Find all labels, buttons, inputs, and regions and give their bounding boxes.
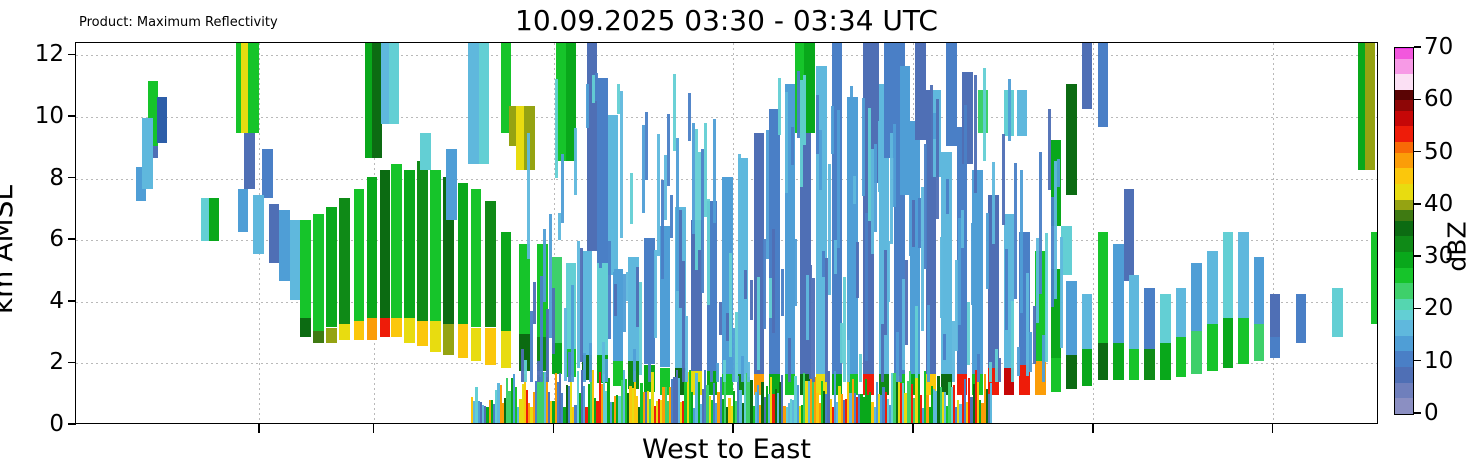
reflectivity-cell — [738, 154, 741, 289]
x-axis-tick — [258, 424, 260, 433]
reflectivity-cell — [893, 124, 896, 208]
colorbar-segment — [1395, 283, 1413, 299]
y-axis-tick-label: 8 — [49, 165, 64, 191]
reflectivity-cell — [354, 321, 365, 340]
reflectivity-column — [479, 42, 490, 423]
y-axis-title: km AMSL — [0, 185, 19, 314]
reflectivity-cell — [862, 98, 865, 196]
colorbar-tick-label: 10 — [1424, 348, 1453, 374]
reflectivity-cell — [611, 229, 614, 272]
reflectivity-column — [269, 42, 280, 423]
reflectivity-cell — [1014, 163, 1017, 299]
reflectivity-cell — [878, 121, 881, 192]
reflectivity-cell — [859, 354, 862, 381]
y-axis-tick — [68, 362, 76, 364]
reflectivity-cell — [1008, 79, 1011, 141]
reflectivity-cell — [599, 148, 602, 268]
reflectivity-cell — [313, 214, 324, 331]
colorbar-tick-label: 70 — [1424, 34, 1453, 60]
reflectivity-cell — [253, 195, 264, 254]
reflectivity-cell — [1254, 324, 1265, 361]
reflectivity-cell — [760, 184, 763, 244]
reflectivity-column — [313, 42, 324, 423]
reflectivity-cell — [269, 204, 280, 263]
y-axis-tick-label: 10 — [35, 103, 64, 129]
reflectivity-cell — [936, 99, 939, 219]
reflectivity-cell — [741, 356, 744, 382]
reflectivity-cell — [543, 229, 546, 302]
reflectivity-cell — [685, 316, 688, 382]
reflectivity-cell — [589, 343, 592, 382]
reflectivity-cell — [667, 114, 670, 186]
reflectivity-column — [1296, 42, 1307, 423]
colorbar-segment — [1395, 320, 1413, 336]
colorbar-segment — [1395, 153, 1413, 169]
reflectivity-column — [1113, 42, 1124, 423]
reflectivity-cell — [964, 105, 967, 258]
reflectivity-cell — [458, 183, 469, 325]
colorbar-segment — [1395, 142, 1413, 153]
reflectivity-cell — [1176, 288, 1187, 337]
reflectivity-cell — [781, 269, 784, 316]
reflectivity-column — [1191, 42, 1202, 423]
reflectivity-cell — [983, 68, 986, 161]
reflectivity-cell — [828, 164, 831, 295]
reflectivity-cell — [326, 207, 337, 327]
reflectivity-cell — [1144, 288, 1155, 350]
reflectivity-cell — [1207, 324, 1218, 370]
reflectivity-cell — [1254, 257, 1265, 325]
colorbar-segment — [1395, 126, 1413, 142]
colorbar-tick-label: 60 — [1424, 86, 1453, 112]
reflectivity-cell — [479, 42, 490, 164]
reflectivity-cell — [847, 340, 850, 382]
reflectivity-cell — [446, 149, 457, 220]
reflectivity-cell — [853, 176, 856, 204]
y-axis-tick-label: 12 — [35, 41, 64, 67]
reflectivity-cell — [1296, 294, 1307, 343]
reflectivity-column — [1223, 42, 1234, 423]
reflectivity-cell — [949, 88, 952, 134]
reflectivity-cell — [788, 338, 791, 382]
colorbar-segment — [1395, 299, 1413, 310]
reflectivity-column — [1066, 42, 1077, 423]
reflectivity-column — [238, 42, 249, 423]
reflectivity-cell — [142, 118, 153, 189]
reflectivity-column — [300, 42, 311, 423]
y-axis-tick-label: 6 — [49, 226, 64, 252]
reflectivity-column — [157, 42, 168, 423]
reflectivity-cell — [354, 189, 365, 322]
reflectivity-cell — [847, 97, 858, 374]
reflectivity-cell — [1045, 233, 1048, 362]
reflectivity-cell — [468, 42, 479, 164]
reflectivity-cell — [580, 248, 583, 362]
reflectivity-cell — [279, 210, 290, 281]
colorbar — [1394, 47, 1414, 415]
reflectivity-cell — [586, 84, 589, 129]
colorbar-segment — [1395, 268, 1413, 284]
reflectivity-cell — [645, 112, 648, 180]
reflectivity-column — [279, 42, 290, 423]
reflectivity-cell — [794, 239, 797, 306]
reflectivity-cell — [1223, 232, 1234, 318]
reflectivity-cell — [614, 284, 617, 316]
reflectivity-column — [339, 42, 350, 423]
reflectivity-cell — [1129, 349, 1140, 380]
colorbar-segment — [1395, 74, 1413, 90]
reflectivity-column — [446, 42, 457, 423]
reflectivity-cell — [430, 170, 441, 321]
reflectivity-column — [1207, 42, 1218, 423]
reflectivity-cell — [1017, 347, 1020, 376]
reflectivity-data — [76, 43, 1377, 423]
colorbar-segment — [1395, 48, 1413, 59]
colorbar-tick — [1414, 412, 1421, 414]
reflectivity-cell — [707, 199, 710, 304]
reflectivity-cell — [1160, 294, 1171, 343]
reflectivity-cell — [856, 242, 859, 299]
colorbar-tick-label: 50 — [1424, 139, 1453, 165]
colorbar-segment — [1395, 90, 1413, 101]
reflectivity-cell — [1098, 42, 1109, 127]
reflectivity-cell — [339, 324, 350, 339]
colorbar-segment — [1395, 48, 1413, 49]
reflectivity-cell — [630, 173, 633, 224]
reflectivity-cell — [1371, 232, 1378, 324]
reflectivity-cell — [992, 162, 995, 244]
reflectivity-cell — [716, 363, 719, 382]
reflectivity-cell — [583, 353, 586, 382]
reflectivity-cell — [633, 349, 636, 382]
reflectivity-cell — [561, 154, 564, 223]
x-axis-title: West to East — [75, 434, 1378, 465]
reflectivity-cell — [1011, 301, 1014, 382]
reflectivity-cell — [735, 312, 738, 382]
reflectivity-cell — [524, 360, 527, 382]
reflectivity-cell — [1113, 343, 1124, 380]
reflectivity-column — [253, 42, 264, 423]
reflectivity-cell — [924, 144, 927, 269]
reflectivity-cell — [527, 133, 530, 259]
x-axis-tick — [373, 424, 375, 433]
colorbar-tick-label: 30 — [1424, 243, 1453, 269]
reflectivity-cell — [912, 200, 915, 247]
y-axis-tick-label: 4 — [49, 288, 64, 314]
reflectivity-cell — [639, 282, 642, 376]
colorbar-segment — [1395, 100, 1413, 111]
colorbar-segment — [1395, 168, 1413, 184]
colorbar-segment — [1395, 367, 1413, 383]
reflectivity-cell — [778, 78, 781, 135]
reflectivity-cell — [1207, 251, 1218, 325]
reflectivity-cell — [1270, 337, 1281, 359]
reflectivity-cell — [1332, 288, 1343, 337]
reflectivity-cell — [1129, 275, 1140, 349]
reflectivity-cell — [1048, 109, 1051, 190]
reflectivity-cell — [1113, 244, 1124, 343]
reflectivity-cell — [887, 241, 890, 302]
y-axis-tick — [68, 300, 76, 302]
colorbar-segment — [1395, 221, 1413, 237]
reflectivity-cell — [1039, 152, 1042, 294]
reflectivity-cell — [710, 362, 713, 382]
colorbar-segment — [1395, 111, 1413, 127]
reflectivity-cell — [1144, 349, 1155, 380]
reflectivity-cell — [905, 260, 908, 345]
reflectivity-cell — [300, 220, 311, 319]
reflectivity-cell — [915, 306, 918, 378]
reflectivity-column — [1332, 42, 1343, 423]
reflectivity-cell — [930, 85, 933, 220]
reflectivity-cell — [571, 285, 574, 382]
reflectivity-cell — [900, 66, 911, 195]
reflectivity-column — [1098, 42, 1109, 423]
reflectivity-cell — [1191, 331, 1202, 374]
reflectivity-column — [1160, 42, 1171, 423]
y-axis-tick — [68, 54, 76, 56]
reflectivity-cell — [1238, 232, 1249, 318]
reflectivity-column — [1129, 42, 1140, 423]
y-axis-tick-label: 0 — [49, 411, 64, 437]
reflectivity-cell — [420, 133, 431, 170]
reflectivity-cell — [574, 128, 577, 196]
colorbar-segment — [1395, 184, 1413, 200]
y-axis-tick — [68, 423, 76, 425]
colorbar-segment — [1395, 351, 1413, 367]
reflectivity-column — [209, 42, 220, 423]
reflectivity-cell — [943, 334, 946, 360]
reflectivity-column — [430, 42, 441, 423]
colorbar-segment — [1395, 309, 1413, 320]
y-axis-tick — [68, 238, 76, 240]
reflectivity-cell — [1160, 343, 1171, 380]
reflectivity-cell — [339, 198, 350, 324]
reflectivity-cell — [1238, 318, 1249, 364]
x-axis-tick — [553, 424, 555, 433]
reflectivity-cell — [238, 189, 249, 232]
reflectivity-column — [326, 42, 337, 423]
plot-area — [75, 42, 1378, 424]
reflectivity-cell — [1082, 42, 1093, 109]
reflectivity-cell — [1191, 263, 1202, 331]
reflectivity-cell — [989, 362, 992, 382]
reflectivity-cell — [980, 300, 983, 375]
x-axis-tick — [732, 424, 734, 433]
x-axis-tick — [912, 424, 914, 433]
reflectivity-cell — [744, 270, 747, 299]
reflectivity-cell — [605, 359, 608, 382]
reflectivity-column — [1176, 42, 1187, 423]
colorbar-tick — [1414, 360, 1421, 362]
reflectivity-cell — [555, 79, 558, 178]
reflectivity-column — [1371, 42, 1378, 423]
colorbar-tick — [1414, 46, 1421, 48]
x-axis-tick — [1272, 424, 1274, 433]
reflectivity-cell — [552, 288, 555, 354]
reflectivity-cell — [620, 91, 623, 238]
reflectivity-cell — [940, 237, 943, 318]
reflectivity-cell — [326, 328, 337, 343]
reflectivity-column — [1144, 42, 1155, 423]
reflectivity-cell — [654, 250, 657, 338]
reflectivity-cell — [300, 318, 311, 337]
reflectivity-cell — [791, 127, 794, 165]
reflectivity-cell — [1270, 294, 1281, 337]
reflectivity-cell — [971, 223, 974, 305]
colorbar-tick-label: 20 — [1424, 295, 1453, 321]
colorbar-segment — [1395, 200, 1413, 211]
reflectivity-cell — [209, 198, 220, 241]
reflectivity-cell — [670, 195, 673, 238]
colorbar-tick — [1414, 151, 1421, 153]
reflectivity-column — [290, 42, 301, 423]
colorbar-segment — [1395, 336, 1413, 352]
reflectivity-cell — [430, 321, 441, 352]
reflectivity-cell — [927, 305, 930, 382]
reflectivity-column — [354, 42, 365, 423]
reflectivity-cell — [812, 278, 815, 382]
reflectivity-cell — [1002, 134, 1005, 225]
reflectivity-cell — [1017, 90, 1028, 136]
reflectivity-cell — [1223, 318, 1234, 367]
reflectivity-cell — [713, 119, 716, 223]
colorbar-tick-label: 0 — [1424, 400, 1439, 426]
reflectivity-cell — [626, 272, 629, 301]
y-axis-tick — [68, 115, 76, 117]
colorbar-tick — [1414, 255, 1421, 257]
reflectivity-cell — [967, 302, 970, 365]
reflectivity-column — [1082, 42, 1093, 423]
reflectivity-cell — [458, 324, 469, 358]
reflectivity-column — [458, 42, 469, 423]
colorbar-tick-label: 40 — [1424, 191, 1453, 217]
reflectivity-cell — [974, 75, 977, 193]
reflectivity-cell — [719, 302, 722, 334]
reflectivity-column — [1238, 42, 1249, 423]
colorbar-segment — [1395, 59, 1413, 75]
reflectivity-cell — [533, 282, 536, 324]
colorbar-segment — [1395, 210, 1413, 221]
colorbar-tick — [1414, 308, 1421, 310]
reflectivity-column — [389, 42, 400, 423]
colorbar-segment — [1395, 398, 1413, 414]
colorbar-tick — [1414, 99, 1421, 101]
reflectivity-cell — [865, 213, 868, 362]
reflectivity-cell — [803, 75, 806, 145]
reflectivity-cell — [850, 86, 853, 113]
reflectivity-cell — [766, 130, 769, 259]
reflectivity-cell — [785, 92, 788, 193]
reflectivity-cell — [723, 360, 726, 382]
reflectivity-cell — [290, 220, 301, 300]
reflectivity-cell — [837, 110, 840, 249]
reflectivity-cell — [757, 277, 760, 370]
reflectivity-cell — [1060, 237, 1063, 349]
reflectivity-cell — [946, 179, 949, 214]
reflectivity-cell — [747, 362, 750, 382]
reflectivity-column — [142, 42, 153, 423]
reflectivity-cell — [831, 106, 834, 154]
reflectivity-cell — [404, 318, 415, 343]
page-title: 10.09.2025 03:30 - 03:34 UTC — [75, 4, 1378, 37]
reflectivity-cell — [1176, 337, 1187, 377]
x-axis-tick — [1092, 424, 1094, 433]
colorbar-segment — [1395, 252, 1413, 268]
colorbar-segment — [1395, 236, 1413, 252]
reflectivity-cell — [915, 42, 926, 140]
reflectivity-cell — [819, 130, 822, 191]
reflectivity-cell — [990, 383, 992, 424]
reflectivity-cell — [986, 213, 989, 289]
reflectivity-cell — [404, 170, 415, 318]
reflectivity-cell — [1005, 249, 1008, 330]
y-axis-tick — [68, 177, 76, 179]
reflectivity-cell — [582, 251, 593, 356]
reflectivity-column — [1270, 42, 1281, 423]
reflectivity-cell — [389, 42, 400, 124]
y-axis-tick-label: 2 — [49, 349, 64, 375]
reflectivity-cell — [775, 152, 778, 305]
reflectivity-cell — [1057, 159, 1060, 187]
colorbar-tick — [1414, 203, 1421, 205]
radar-cross-section-figure: Product: Maximum Reflectivity 10.09.2025… — [0, 0, 1482, 470]
reflectivity-cell — [1066, 84, 1077, 195]
reflectivity-column — [404, 42, 415, 423]
reflectivity-cell — [157, 97, 168, 143]
reflectivity-cell — [998, 358, 1001, 382]
reflectivity-cell — [313, 331, 324, 343]
colorbar-segment — [1395, 383, 1413, 399]
reflectivity-column — [468, 42, 479, 423]
reflectivity-cell — [595, 73, 598, 101]
reflectivity-column — [420, 42, 431, 423]
reflectivity-column — [1254, 42, 1265, 423]
